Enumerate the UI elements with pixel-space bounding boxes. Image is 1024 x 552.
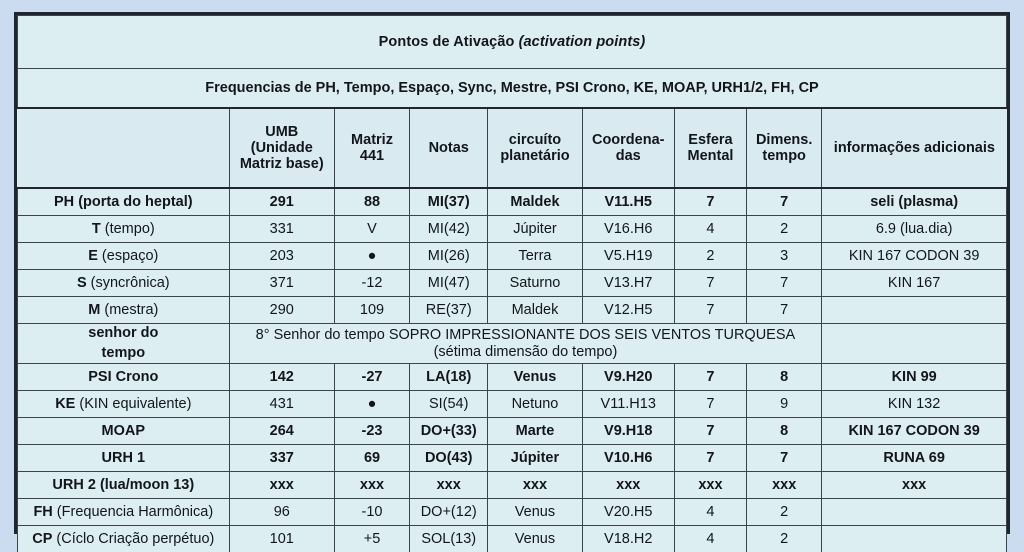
row-label-abbr: PSI Crono — [88, 369, 158, 385]
table-row: PSI Crono142-27LA(18)VenusV9.H2078KIN 99 — [18, 364, 1007, 391]
table-row: PH (porta do heptal)29188MI(37)MaldekV11… — [18, 188, 1007, 216]
cell-notas: MI(26) — [410, 243, 488, 270]
cell-esfera-mental: 7 — [674, 364, 746, 391]
cell-informacoes-adicionais: xxx — [822, 472, 1007, 499]
column-header-matriz-line1: Matriz — [351, 132, 393, 148]
cell-esfera-mental: 7 — [674, 188, 746, 216]
cell-esfera-mental: 7 — [674, 297, 746, 324]
subtitle-row: Frequencias de PH, Tempo, Espaço, Sync, … — [18, 69, 1007, 109]
column-header-notas: Notas — [410, 108, 488, 188]
cell-circuito-planetario: Maldek — [488, 188, 582, 216]
row-label-abbr: M — [88, 302, 100, 318]
cell-esfera-mental: 4 — [674, 499, 746, 526]
cell-coordenadas: V10.H6 — [582, 445, 674, 472]
table-header-row: UMB (Unidade Matriz base) Matriz 441 Not… — [18, 108, 1007, 188]
table-body: PH (porta do heptal)29188MI(37)MaldekV11… — [18, 188, 1007, 552]
column-header-umb-line3: Matriz base) — [240, 156, 324, 172]
cell-esfera-mental: 7 — [674, 391, 746, 418]
cell-informacoes-adicionais — [822, 499, 1007, 526]
cell-informacoes-adicionais — [822, 526, 1007, 552]
row-label-name: (syncrônica) — [87, 275, 170, 291]
cell-notas: xxx — [410, 472, 488, 499]
cell-notas: MI(42) — [410, 216, 488, 243]
column-header-matriz441: Matriz 441 — [334, 108, 409, 188]
cell-dimens-tempo: 3 — [747, 243, 822, 270]
cell-dimens-tempo: 2 — [747, 526, 822, 552]
cell-dimens-tempo: 7 — [747, 188, 822, 216]
cell-notas: LA(18) — [410, 364, 488, 391]
table-row: T (tempo)331VMI(42)JúpiterV16.H6426.9 (l… — [18, 216, 1007, 243]
cell-umb: 371 — [229, 270, 334, 297]
cell-informacoes-adicionais: KIN 99 — [822, 364, 1007, 391]
cell-esfera-mental: 7 — [674, 445, 746, 472]
page-subtitle: Frequencias de PH, Tempo, Espaço, Sync, … — [18, 69, 1007, 109]
row-label-abbr: PH — [54, 194, 74, 210]
cell-notas: SI(54) — [410, 391, 488, 418]
row-label: URH 2 (lua/moon 13) — [18, 472, 230, 499]
row-label: PH (porta do heptal) — [18, 188, 230, 216]
row-label-abbr: URH 1 — [102, 450, 146, 466]
cell-umb: xxx — [229, 472, 334, 499]
cell-circuito-planetario: Netuno — [488, 391, 582, 418]
column-header-umb-line1: UMB — [265, 124, 298, 140]
page-title-italic: (activation points) — [519, 34, 646, 50]
title-row: Pontos de Ativação (activation points) — [18, 16, 1007, 69]
column-header-umb-line2: (Unidade — [251, 140, 313, 156]
cell-dimens-tempo: 2 — [747, 216, 822, 243]
cell-dimens-tempo: 7 — [747, 445, 822, 472]
row-label-abbr: E — [88, 248, 98, 264]
merged-note-line2: (sétima dimensão do tempo) — [235, 344, 817, 360]
table-row: FH (Frequencia Harmônica)96-10DO+(12)Ven… — [18, 499, 1007, 526]
cell-informacoes-adicionais — [822, 297, 1007, 324]
row-label: T (tempo) — [18, 216, 230, 243]
cell-dimens-tempo: 2 — [747, 499, 822, 526]
row-label-abbr: senhor do — [88, 325, 158, 341]
cell-dimens-tempo: 7 — [747, 270, 822, 297]
column-header-dimens-line1: Dimens. — [756, 132, 812, 148]
cell-notas: DO+(33) — [410, 418, 488, 445]
cell-notas: DO+(12) — [410, 499, 488, 526]
cell-informacoes-adicionais: seli (plasma) — [822, 188, 1007, 216]
cell-umb: 101 — [229, 526, 334, 552]
row-label-name: (Cíclo Criação perpétuo) — [52, 531, 214, 547]
cell-matriz441: -23 — [334, 418, 409, 445]
cell-umb: 203 — [229, 243, 334, 270]
cell-matriz441: -10 — [334, 499, 409, 526]
cell-informacoes-adicionais: KIN 132 — [822, 391, 1007, 418]
table-row: S (syncrônica)371-12MI(47)SaturnoV13.H77… — [18, 270, 1007, 297]
row-label-abbr: CP — [32, 531, 52, 547]
cell-coordenadas: V13.H7 — [582, 270, 674, 297]
merged-note-cell: 8° Senhor do tempo SOPRO IMPRESSIONANTE … — [229, 324, 822, 364]
cell-coordenadas: V16.H6 — [582, 216, 674, 243]
cell-coordenadas: V9.H20 — [582, 364, 674, 391]
column-header-esfera-line2: Mental — [688, 148, 734, 164]
cell-coordenadas: V11.H13 — [582, 391, 674, 418]
cell-dimens-tempo: 8 — [747, 364, 822, 391]
row-label: senhor dotempo — [18, 324, 230, 364]
cell-umb: 96 — [229, 499, 334, 526]
column-header-circuito-line1: circuíto — [509, 132, 561, 148]
cell-esfera-mental: 4 — [674, 216, 746, 243]
column-header-umb: UMB (Unidade Matriz base) — [229, 108, 334, 188]
cell-circuito-planetario: Maldek — [488, 297, 582, 324]
row-label-abbr: FH — [33, 504, 52, 520]
cell-informacoes-adicionais: KIN 167 CODON 39 — [822, 418, 1007, 445]
cell-umb: 337 — [229, 445, 334, 472]
cell-coordenadas: V9.H18 — [582, 418, 674, 445]
cell-coordenadas: V12.H5 — [582, 297, 674, 324]
cell-notas: MI(37) — [410, 188, 488, 216]
spreadsheet-sheet: Pontos de Ativação (activation points) F… — [14, 12, 1010, 534]
table-row: E (espaço)203●MI(26)TerraV5.H1923KIN 167… — [18, 243, 1007, 270]
cell-notas: DO(43) — [410, 445, 488, 472]
row-label-name: (mestra) — [100, 302, 158, 318]
cell-informacoes-adicionais: KIN 167 CODON 39 — [822, 243, 1007, 270]
cell-informacoes-adicionais — [822, 324, 1007, 364]
activation-points-table: Pontos de Ativação (activation points) F… — [17, 15, 1007, 552]
row-label: S (syncrônica) — [18, 270, 230, 297]
row-label-abbr: T — [92, 221, 101, 237]
row-label-name: (KIN equivalente) — [75, 396, 191, 412]
cell-matriz441: 88 — [334, 188, 409, 216]
cell-umb: 142 — [229, 364, 334, 391]
cell-circuito-planetario: Venus — [488, 364, 582, 391]
table-row: MOAP264-23DO+(33)MarteV9.H1878KIN 167 CO… — [18, 418, 1007, 445]
row-label: KE (KIN equivalente) — [18, 391, 230, 418]
column-header-coordenadas: Coordena- das — [582, 108, 674, 188]
cell-circuito-planetario: xxx — [488, 472, 582, 499]
cell-circuito-planetario: Venus — [488, 499, 582, 526]
cell-matriz441: 109 — [334, 297, 409, 324]
column-header-esfera-line1: Esfera — [688, 132, 732, 148]
row-label: E (espaço) — [18, 243, 230, 270]
cell-esfera-mental: 7 — [674, 270, 746, 297]
column-header-esfera-mental: Esfera Mental — [674, 108, 746, 188]
cell-circuito-planetario: Júpiter — [488, 445, 582, 472]
cell-coordenadas: xxx — [582, 472, 674, 499]
row-label-name: (Frequencia Harmônica) — [53, 504, 213, 520]
row-label-abbr: URH 2 (lua/moon 13) — [52, 477, 194, 493]
cell-informacoes-adicionais: KIN 167 — [822, 270, 1007, 297]
page-title-main: Pontos de Ativação — [379, 34, 519, 50]
column-header-dimens-tempo: Dimens. tempo — [747, 108, 822, 188]
cell-umb: 264 — [229, 418, 334, 445]
cell-dimens-tempo: 8 — [747, 418, 822, 445]
row-label: M (mestra) — [18, 297, 230, 324]
column-header-coord-line1: Coordena- — [592, 132, 665, 148]
cell-circuito-planetario: Júpiter — [488, 216, 582, 243]
cell-esfera-mental: xxx — [674, 472, 746, 499]
table-row: KE (KIN equivalente)431●SI(54)NetunoV11.… — [18, 391, 1007, 418]
cell-circuito-planetario: Marte — [488, 418, 582, 445]
row-label-name: (porta do heptal) — [74, 194, 192, 210]
cell-dimens-tempo: xxx — [747, 472, 822, 499]
cell-dimens-tempo: 7 — [747, 297, 822, 324]
column-header-circuito-line2: planetário — [500, 148, 569, 164]
column-header-dimens-line2: tempo — [762, 148, 806, 164]
row-label: MOAP — [18, 418, 230, 445]
cell-matriz441: xxx — [334, 472, 409, 499]
column-header-matriz-line2: 441 — [360, 148, 384, 164]
cell-esfera-mental: 7 — [674, 418, 746, 445]
cell-matriz441: 69 — [334, 445, 409, 472]
cell-dimens-tempo: 9 — [747, 391, 822, 418]
row-label-name: (tempo) — [101, 221, 155, 237]
row-label-abbr: KE — [55, 396, 75, 412]
cell-matriz441: -27 — [334, 364, 409, 391]
column-header-circuito-planetario: circuíto planetário — [488, 108, 582, 188]
cell-matriz441: V — [334, 216, 409, 243]
table-row: senhor dotempo8° Senhor do tempo SOPRO I… — [18, 324, 1007, 364]
cell-circuito-planetario: Saturno — [488, 270, 582, 297]
table-row: CP (Cíclo Criação perpétuo)101+5SOL(13)V… — [18, 526, 1007, 552]
cell-matriz441: +5 — [334, 526, 409, 552]
cell-informacoes-adicionais: 6.9 (lua.dia) — [822, 216, 1007, 243]
column-header-label — [18, 108, 230, 188]
cell-umb: 331 — [229, 216, 334, 243]
column-header-coord-line2: das — [616, 148, 641, 164]
cell-matriz441: ● — [334, 391, 409, 418]
row-label-name: (espaço) — [98, 248, 158, 264]
page-title: Pontos de Ativação (activation points) — [18, 16, 1007, 69]
row-label-abbr: S — [77, 275, 87, 291]
cell-informacoes-adicionais: RUNA 69 — [822, 445, 1007, 472]
cell-notas: MI(47) — [410, 270, 488, 297]
cell-notas: RE(37) — [410, 297, 488, 324]
row-label: URH 1 — [18, 445, 230, 472]
cell-umb: 291 — [229, 188, 334, 216]
row-label: FH (Frequencia Harmônica) — [18, 499, 230, 526]
cell-esfera-mental: 2 — [674, 243, 746, 270]
row-label: PSI Crono — [18, 364, 230, 391]
table-row: URH 2 (lua/moon 13)xxxxxxxxxxxxxxxxxxxxx… — [18, 472, 1007, 499]
row-label-line2: tempo — [102, 345, 146, 361]
cell-coordenadas: V5.H19 — [582, 243, 674, 270]
row-label: CP (Cíclo Criação perpétuo) — [18, 526, 230, 552]
cell-circuito-planetario: Venus — [488, 526, 582, 552]
cell-coordenadas: V11.H5 — [582, 188, 674, 216]
cell-notas: SOL(13) — [410, 526, 488, 552]
cell-esfera-mental: 4 — [674, 526, 746, 552]
cell-umb: 290 — [229, 297, 334, 324]
column-header-informacoes-adicionais: informações adicionais — [822, 108, 1007, 188]
table-row: URH 133769DO(43)JúpiterV10.H677RUNA 69 — [18, 445, 1007, 472]
cell-coordenadas: V20.H5 — [582, 499, 674, 526]
cell-circuito-planetario: Terra — [488, 243, 582, 270]
merged-note-line1: 8° Senhor do tempo SOPRO IMPRESSIONANTE … — [256, 327, 796, 343]
cell-umb: 431 — [229, 391, 334, 418]
cell-coordenadas: V18.H2 — [582, 526, 674, 552]
row-label-abbr: MOAP — [102, 423, 146, 439]
table-row: M (mestra)290109RE(37)MaldekV12.H577 — [18, 297, 1007, 324]
cell-matriz441: ● — [334, 243, 409, 270]
cell-matriz441: -12 — [334, 270, 409, 297]
